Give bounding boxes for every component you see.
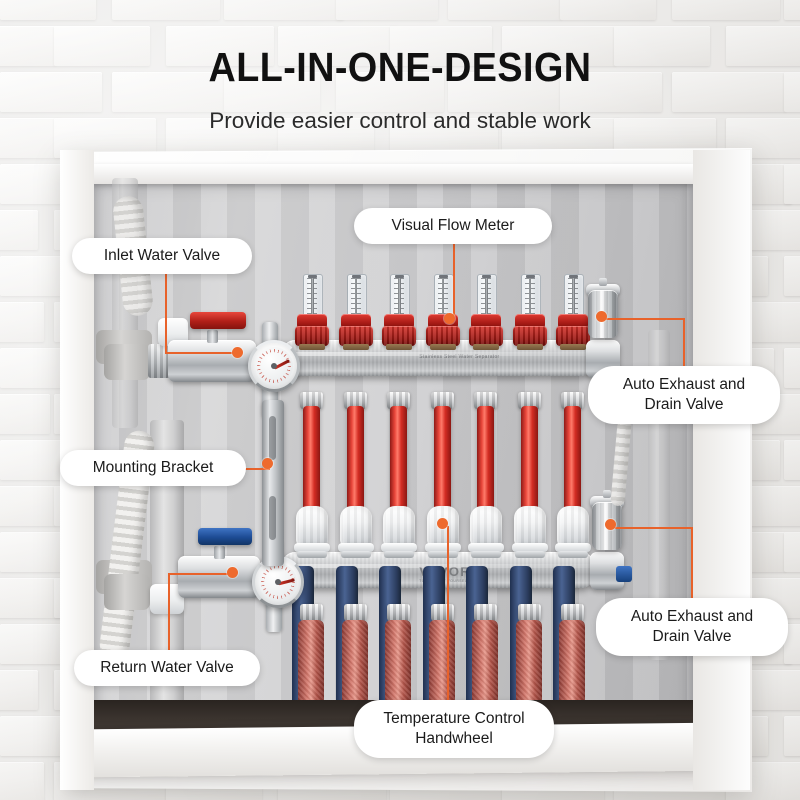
callout-line: Auto Exhaust and: [631, 608, 753, 625]
inlet-temperature-gauge: [248, 340, 300, 392]
brick: [784, 716, 800, 756]
flow-meter-stem-top: [439, 275, 448, 278]
callout-line: Return Water Valve: [100, 659, 234, 676]
flow-meter-base: [517, 344, 543, 350]
flow-meter[interactable]: [469, 274, 503, 350]
flow-meter-knob[interactable]: [426, 326, 460, 346]
brick: [784, 72, 800, 112]
brick: [0, 210, 38, 250]
flow-meter-stem-top: [569, 275, 578, 278]
brick: [784, 256, 800, 296]
handwheel-collar: [471, 551, 501, 558]
inlet-valve-body: [168, 340, 256, 382]
brick: [672, 0, 780, 20]
brick: [224, 0, 344, 20]
flow-meter-stem: [398, 276, 401, 318]
callout-mounting-bracket[interactable]: Mounting Bracket: [60, 450, 246, 486]
flow-meter-knob[interactable]: [382, 326, 416, 346]
gauge-hub-return: [275, 579, 281, 585]
flow-meter-knob[interactable]: [469, 326, 503, 346]
brick: [560, 0, 656, 20]
vent-nipple-bottom: [603, 490, 611, 498]
callout-dot: [227, 567, 238, 578]
brick: [784, 440, 800, 480]
flow-meter-stem: [572, 276, 575, 318]
brick: [0, 578, 62, 618]
bottom-compression-fitting: [431, 604, 454, 621]
bottom-compression-fitting: [344, 604, 367, 621]
temperature-control-handwheel[interactable]: [338, 506, 374, 558]
return-insulation: [104, 574, 150, 610]
leader-line: [453, 244, 455, 320]
temperature-control-handwheel[interactable]: [555, 506, 591, 558]
flow-meter-knob[interactable]: [513, 326, 547, 346]
flow-meter-stem: [529, 276, 532, 318]
page-title: ALL-IN-ONE-DESIGN: [32, 44, 768, 91]
manifold-engraving-text: Stainless Steel Water Separator: [419, 354, 499, 361]
handwheel-dome: [470, 506, 502, 546]
flow-meter-base: [560, 344, 586, 350]
callout-dot: [437, 518, 448, 529]
flow-meter-base: [343, 344, 369, 350]
mounting-bracket: [262, 400, 284, 566]
handwheel-collar: [558, 551, 588, 558]
inlet-valve-handle[interactable]: [190, 312, 246, 329]
bottom-compression-fitting: [518, 604, 541, 621]
brick: [784, 348, 800, 388]
handwheel-collar: [341, 551, 371, 558]
brick: [784, 0, 800, 20]
leader-line: [615, 527, 692, 529]
temperature-control-handwheel[interactable]: [381, 506, 417, 558]
flow-meter[interactable]: [339, 274, 373, 350]
callout-line: Auto Exhaust and: [623, 376, 745, 393]
callout-line: Inlet Water Valve: [104, 247, 220, 264]
inlet-valve-neck: [207, 330, 218, 343]
brick: [0, 762, 44, 800]
callout-dot: [262, 458, 273, 469]
leader-line: [168, 574, 170, 650]
temperature-control-handwheel[interactable]: [294, 506, 330, 558]
flow-meter[interactable]: [556, 274, 590, 350]
flow-meter-stem-top: [526, 275, 535, 278]
handwheel-collar: [428, 551, 458, 558]
brick: [0, 394, 50, 434]
flow-meter-stem-top: [352, 275, 361, 278]
leader-line: [168, 573, 235, 575]
handwheel-dome: [296, 506, 328, 546]
brick-row: [0, 0, 800, 26]
callout-temperature-handwheel[interactable]: Temperature ControlHandwheel: [354, 700, 554, 758]
brick: [448, 0, 562, 20]
cabinet-top-lip: [93, 164, 693, 184]
temperature-control-handwheel[interactable]: [425, 506, 461, 558]
bottom-compression-fitting: [300, 604, 323, 621]
bottom-compression-fitting: [561, 604, 584, 621]
flow-meter-stem: [442, 276, 445, 318]
handwheel-collar: [297, 551, 327, 558]
leader-line: [683, 318, 685, 366]
leader-line: [165, 274, 167, 353]
flow-meter-base: [430, 344, 456, 350]
flow-meter-stem: [311, 276, 314, 318]
callout-line: Handwheel: [415, 730, 493, 747]
return-valve-handle[interactable]: [198, 528, 252, 545]
callout-dot: [232, 347, 243, 358]
callout-line: Drain Valve: [653, 628, 732, 645]
return-valve-body: [178, 556, 260, 598]
bottom-compression-fitting: [474, 604, 497, 621]
flow-meter-stem: [485, 276, 488, 318]
callout-dot: [596, 311, 607, 322]
handwheel-dome: [557, 506, 589, 546]
temperature-control-handwheel[interactable]: [512, 506, 548, 558]
flow-meter-base: [386, 344, 412, 350]
flow-meter-knob[interactable]: [339, 326, 373, 346]
brick: [0, 486, 56, 526]
brick: [0, 0, 96, 20]
flow-meter-base: [299, 344, 325, 350]
leader-line: [447, 526, 449, 700]
callout-visual-flow-meter[interactable]: Visual Flow Meter: [354, 208, 552, 244]
callout-auto-exhaust-bottom[interactable]: Auto Exhaust andDrain Valve: [596, 598, 788, 656]
callout-line: Visual Flow Meter: [392, 217, 515, 234]
callout-line: Temperature Control: [383, 710, 524, 727]
flow-meter[interactable]: [295, 274, 329, 350]
vent-nipple-top: [599, 278, 607, 286]
handwheel-dome: [340, 506, 372, 546]
flow-meter-stem: [355, 276, 358, 318]
leader-line: [165, 352, 240, 354]
flow-meter[interactable]: [513, 274, 547, 350]
brick: [112, 0, 220, 20]
callout-line: Mounting Bracket: [93, 459, 214, 476]
flow-meter-knob[interactable]: [556, 326, 590, 346]
brick: [784, 164, 800, 204]
callout-return-water-valve[interactable]: Return Water Valve: [74, 650, 260, 686]
flow-meter[interactable]: [382, 274, 416, 350]
leader-line: [691, 527, 693, 598]
flow-meter-stem-top: [308, 275, 317, 278]
bracket-slot-top: [269, 416, 276, 460]
handwheel-collar: [384, 551, 414, 558]
callout-dot: [444, 313, 455, 324]
leader-line: [606, 318, 684, 320]
gauge-hub: [271, 363, 277, 369]
flow-meter-stem-top: [395, 275, 404, 278]
callout-line: Drain Valve: [645, 396, 724, 413]
bracket-slot-bottom: [269, 496, 276, 540]
brick: [336, 0, 438, 20]
callout-dot: [605, 519, 616, 530]
cabinet-right-edge: [693, 150, 750, 790]
inlet-insulation: [104, 344, 150, 380]
page-subtitle: Provide easier control and stable work: [0, 108, 800, 134]
callout-inlet-water-valve[interactable]: Inlet Water Valve: [72, 238, 252, 274]
handwheel-collar: [515, 551, 545, 558]
flow-meter-knob[interactable]: [295, 326, 329, 346]
bottom-compression-fitting: [387, 604, 410, 621]
handwheel-dome: [383, 506, 415, 546]
brick: [0, 302, 44, 342]
flow-meter-base: [473, 344, 499, 350]
handwheel-dome: [514, 506, 546, 546]
brick: [0, 670, 38, 710]
flow-meter-stem-top: [482, 275, 491, 278]
brick: [784, 532, 800, 572]
product-infographic: Stainless Steel Water Separator VEVOR TO…: [0, 0, 800, 800]
return-valve-neck: [214, 546, 225, 559]
drain-valve-blue[interactable]: [616, 566, 632, 582]
callout-auto-exhaust-top[interactable]: Auto Exhaust andDrain Valve: [588, 366, 780, 424]
temperature-control-handwheel[interactable]: [468, 506, 504, 558]
